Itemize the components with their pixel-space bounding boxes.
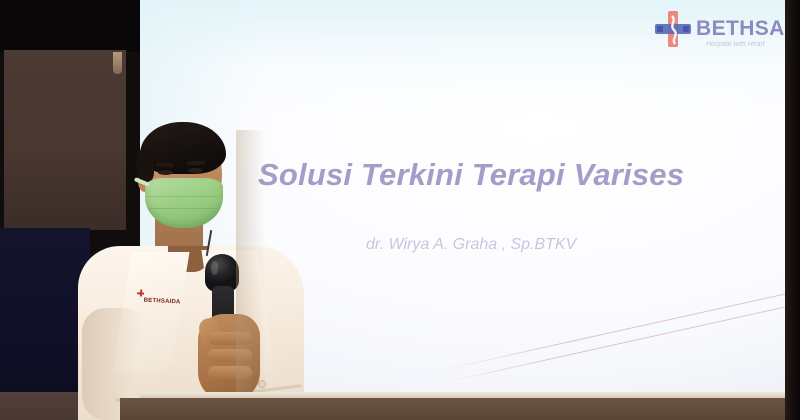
mask-pleat <box>148 208 218 209</box>
eye-left <box>158 170 173 175</box>
coat-cross-icon <box>137 289 144 296</box>
logo-tagline: Hospital with Heart <box>706 41 765 48</box>
screen-light-streak <box>440 305 792 384</box>
hospital-cross-icon <box>652 10 696 50</box>
screen-light-streak <box>440 292 792 371</box>
coat-embroidered-logo: BETHSAIDA <box>144 289 199 303</box>
speaker-person: BETHSAIDA <box>60 118 320 420</box>
slide-subtitle-speaker-name: dr. Wirya A. Graha , Sp.BTKV <box>366 236 786 254</box>
stage-floor <box>120 398 800 420</box>
microphone-highlight <box>211 261 218 275</box>
screen-frame-right <box>785 0 800 420</box>
mask-pleat <box>148 196 218 197</box>
eyebrow-left <box>156 163 174 168</box>
surgical-mask <box>145 178 223 228</box>
wall-sconce-light <box>113 52 122 74</box>
slide-title: Solusi Terkini Terapi Varises <box>258 157 738 193</box>
speaker-cast-shadow <box>236 130 266 420</box>
eyebrow-right <box>187 161 205 166</box>
ceiling-area <box>0 0 145 52</box>
eye-right <box>188 168 203 173</box>
presentation-photo: Solusi Terkini Terapi Varises dr. Wirya … <box>0 0 800 420</box>
hair-sideburn <box>136 148 154 182</box>
bethsaida-logo: BETHSAIDA Hospital with Heart <box>652 8 782 56</box>
